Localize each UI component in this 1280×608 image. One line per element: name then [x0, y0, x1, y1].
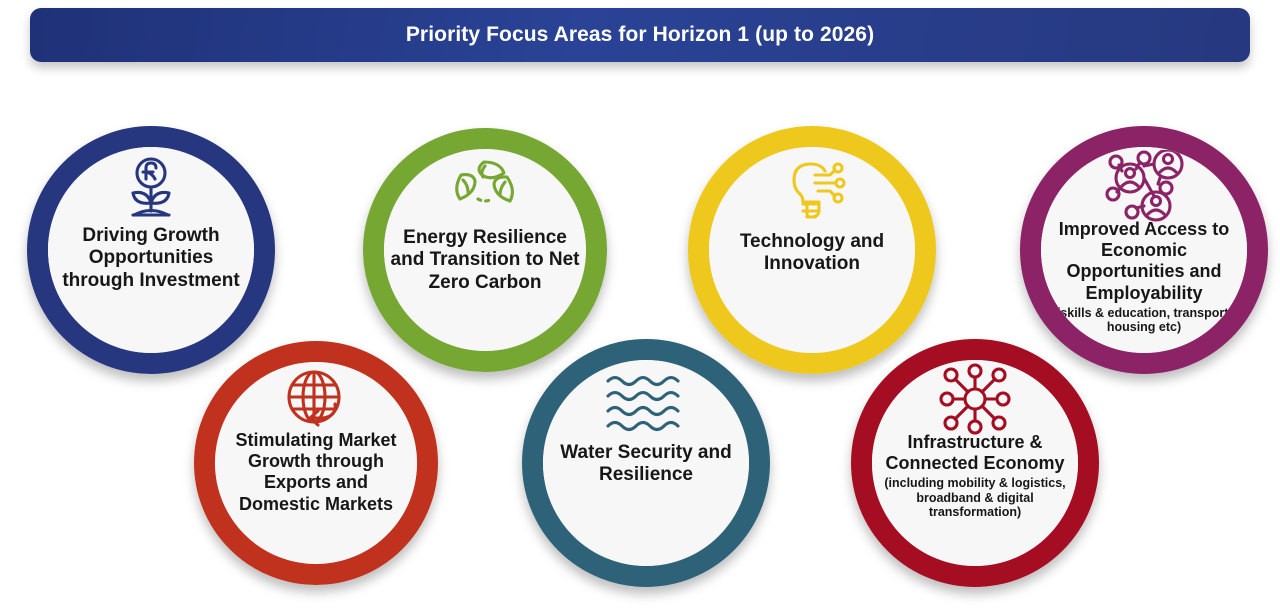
- focus-area-label-5: Technology and Innovation: [709, 231, 915, 276]
- focus-area-node-4[interactable]: Water Security and Resilience: [543, 360, 749, 566]
- focus-area-label-6: Infrastructure & Connected Economy: [872, 432, 1078, 474]
- focus-area-node-6[interactable]: Infrastructure & Connected Economy(inclu…: [872, 360, 1078, 566]
- priority-focus-diagram: Driving Growth Opportunities through Inv…: [0, 0, 1280, 608]
- network-hub-icon: [938, 366, 1012, 432]
- focus-area-sublabel-6: (including mobility & logistics, broadba…: [872, 476, 1078, 519]
- water-waves-icon: [603, 366, 689, 442]
- focus-area-label-4: Water Security and Resilience: [543, 442, 749, 487]
- focus-area-node-3[interactable]: Energy Resilience and Transition to Net …: [384, 149, 586, 351]
- focus-area-label-3: Energy Resilience and Transition to Net …: [384, 227, 586, 294]
- focus-area-label-2: Stimulating Market Growth through Export…: [215, 430, 417, 515]
- focus-area-label-1: Driving Growth Opportunities through Inv…: [48, 225, 254, 292]
- focus-area-node-1[interactable]: Driving Growth Opportunities through Inv…: [48, 147, 254, 353]
- sprout-currency-icon: [120, 153, 182, 225]
- recycle-leaves-icon: [448, 155, 522, 227]
- lightbulb-circuit-icon: [774, 153, 850, 231]
- focus-area-node-7[interactable]: Improved Access to Economic Opportunitie…: [1041, 147, 1247, 353]
- focus-area-node-2[interactable]: Stimulating Market Growth through Export…: [215, 362, 417, 564]
- focus-area-node-5[interactable]: Technology and Innovation: [709, 147, 915, 353]
- people-network-icon: [1102, 153, 1186, 219]
- focus-area-label-7: Improved Access to Economic Opportunitie…: [1041, 219, 1247, 304]
- globe-arrow-icon: [283, 368, 349, 430]
